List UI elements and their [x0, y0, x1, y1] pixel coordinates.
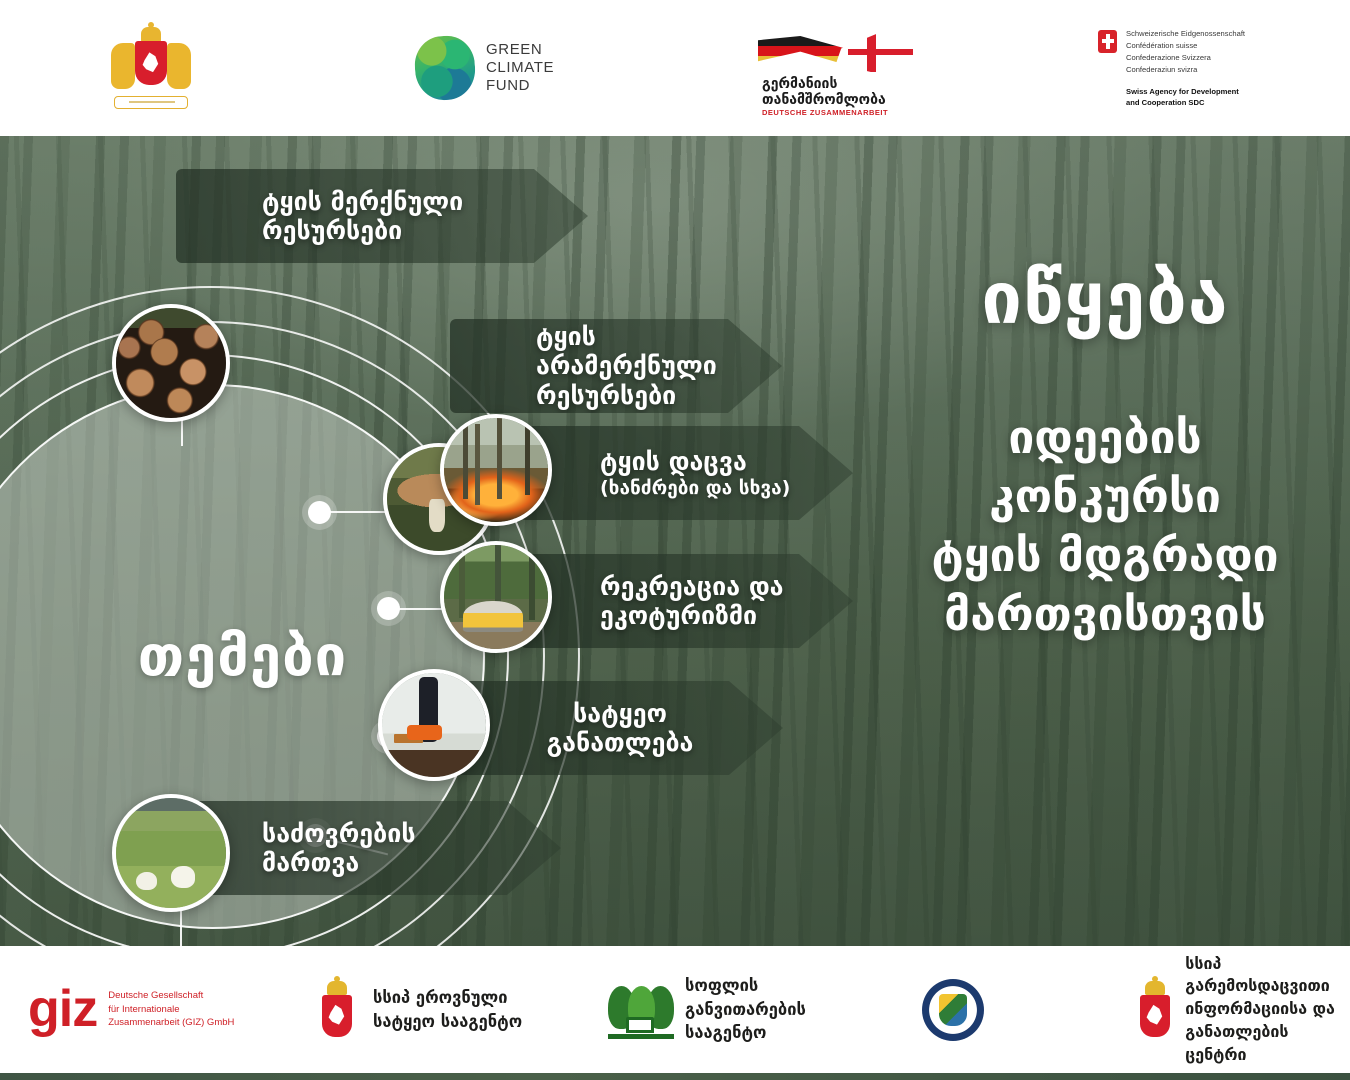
rural-line-2: განვითარების — [685, 998, 806, 1021]
coat-of-arms-icon — [108, 23, 194, 113]
topic-photo-education — [378, 669, 490, 781]
rural-line-1: სოფლის — [685, 974, 806, 997]
topic-label-recreation-line2: ეკოტურიზმი — [600, 601, 757, 630]
crown-icon — [141, 27, 161, 42]
forestry-line-1: სსიპ ეროვნული — [373, 986, 522, 1009]
chainsaw-worker-photo — [382, 673, 486, 777]
topic-label-pasture-line2: მართვა — [262, 848, 359, 877]
sdc-languages: Schweizerische Eidgenossenschaft Confédé… — [1126, 28, 1245, 77]
giz-logo: giz Deutsche Gesellschaft für Internatio… — [28, 946, 234, 1073]
eiec-line-1: სსიპ გარემოსდაცვითი — [1185, 953, 1350, 998]
crown-small-icon — [327, 981, 347, 995]
topic-arrow-recreation[interactable]: რეკრეაცია და ეკოტურიზმი — [520, 554, 853, 648]
green-climate-fund-logo: GREEN CLIMATE FUND — [415, 0, 554, 136]
topic-label-recreation-line1: რეკრეაცია და — [600, 572, 784, 601]
german-flag-icon — [758, 36, 850, 66]
shield-small-icon — [322, 995, 352, 1037]
topic-label-recreation: რეკრეაცია და ეკოტურიზმი — [600, 572, 784, 631]
eiec-name: სსიპ გარემოსდაცვითი ინფორმაციისა და განა… — [1185, 953, 1350, 1067]
topic-label-pasture: საძოვრების მართვა — [262, 819, 416, 878]
ministry-seal-icon — [922, 979, 984, 1041]
topic-label-education-line2: განათლება — [547, 728, 694, 757]
lion-left-icon — [111, 43, 135, 89]
topic-label-non-timber-line1: ტყის არამერქნული — [536, 322, 717, 381]
giz-subtitle: Deutsche Gesellschaft für Internationale… — [108, 989, 234, 1030]
poster-subheadline: იდეების კონკურსი ტყის მდგრადი მართვისთვი… — [890, 408, 1320, 644]
topic-label-non-timber: ტყის არამერქნული რესურსები — [536, 322, 782, 411]
stacked-logs-photo — [116, 308, 226, 418]
forestry-line-2: სატყეო სააგენტო — [373, 1010, 522, 1033]
coat-of-arms-small-icon — [312, 979, 362, 1041]
german-georgian-flags-icon — [758, 26, 918, 78]
subhead-line-3: ტყის მდგრადი — [890, 526, 1320, 585]
german-cooperation-logo: გერმანიის თანამშრომლობა DEUTSCHE ZUSAMME… — [748, 0, 928, 136]
shield-small-icon-2 — [1140, 995, 1170, 1037]
eiec-line-3: განათლების ცენტრი — [1185, 1021, 1350, 1066]
shield-icon — [135, 41, 167, 85]
giz-sub-3: Zusammenarbeit (GIZ) GmbH — [108, 1016, 234, 1030]
dz-line-2: თანამშრომლობა — [762, 92, 886, 108]
orbit-dot-protection — [377, 597, 400, 620]
topic-arrow-timber[interactable]: ტყის მერქნული რესურსები — [176, 169, 588, 263]
topic-label-non-timber-line2: რესურსები — [536, 381, 676, 410]
topic-photo-protection — [440, 414, 552, 526]
crown-small-icon-2 — [1145, 981, 1165, 995]
topic-label-timber: ტყის მერქნული რესურსები — [262, 187, 463, 246]
forest-fire-photo — [444, 418, 548, 522]
ribbon-icon — [114, 96, 188, 109]
subhead-line-2: კონკურსი — [890, 467, 1320, 526]
house-icon — [626, 1017, 654, 1033]
sdc-line-rm: Confederaziun svizra — [1126, 64, 1245, 76]
ground-line-icon — [608, 1034, 674, 1039]
footer-logo-bar: giz Deutsche Gesellschaft für Internatio… — [0, 946, 1350, 1073]
national-forestry-agency-logo: სსიპ ეროვნული სატყეო სააგენტო — [312, 946, 522, 1073]
gcf-wordmark: GREEN CLIMATE FUND — [486, 41, 554, 96]
topic-label-timber-line2: რესურსები — [262, 216, 402, 245]
topic-label-protection-sub: (ხანძრები და სხვა) — [600, 477, 790, 499]
topic-label-education-line1: სატყეო — [573, 699, 667, 728]
poster-main-stage: თემები ტყის მერქნული რესურსები ტყის არამ… — [0, 136, 1350, 946]
topic-photo-timber — [112, 304, 230, 422]
sdc-line-it: Confederazione Svizzera — [1126, 52, 1245, 64]
sdc-line-fr: Confédération suisse — [1126, 40, 1245, 52]
gcf-line-2: CLIMATE — [486, 59, 554, 77]
giz-wordmark: giz — [28, 989, 97, 1031]
topic-photo-pasture — [112, 794, 230, 912]
bottom-accent-strip — [0, 1073, 1350, 1080]
poster-headline: იწყება — [890, 256, 1320, 340]
lion-right-icon — [167, 43, 191, 89]
header-logo-bar: GREEN CLIMATE FUND გერმანიის თანამშრომლო… — [0, 0, 1350, 136]
topic-label-protection: ტყის დაცვა (ხანძრები და სხვა) — [600, 447, 790, 499]
camping-tent-photo — [444, 545, 548, 649]
grazing-sheep-photo — [116, 798, 226, 908]
topic-arrow-protection[interactable]: ტყის დაცვა (ხანძრები და სხვა) — [520, 426, 853, 520]
rural-development-agency-logo: სოფლის განვითარების სააგენტო — [608, 946, 806, 1073]
trees-house-icon — [608, 981, 674, 1039]
sdc-bold-1: Swiss Agency for Development — [1126, 86, 1245, 97]
gcf-line-3: FUND — [486, 77, 554, 95]
sdc-line-de: Schweizerische Eidgenossenschaft — [1126, 28, 1245, 40]
topic-label-protection-line1: ტყის დაცვა — [600, 447, 747, 476]
topic-label-education: სატყეო განათლება — [540, 699, 700, 758]
subhead-line-1: იდეების — [890, 408, 1320, 467]
topic-arrow-non-timber[interactable]: ტყის არამერქნული რესურსები — [450, 319, 782, 413]
georgian-flag-icon — [836, 30, 922, 74]
central-topics-label: თემები — [138, 624, 347, 689]
georgia-coat-of-arms-logo — [108, 0, 194, 136]
subhead-line-4: მართვისთვის — [890, 585, 1320, 644]
eiec-line-2: ინფორმაციისა და — [1185, 998, 1350, 1021]
topic-label-pasture-line1: საძოვრების — [262, 819, 416, 848]
sdc-agency-name: Swiss Agency for Development and Coopera… — [1126, 86, 1245, 109]
swiss-flag-icon — [1098, 30, 1117, 53]
coat-of-arms-small-icon-2 — [1130, 979, 1174, 1041]
dz-line-3: DEUTSCHE ZUSAMMENARBEIT — [762, 108, 888, 117]
topic-photo-recreation — [440, 541, 552, 653]
dz-line-1: გერმანიის — [762, 76, 837, 92]
ministry-seal-logo — [922, 946, 984, 1073]
forestry-agency-name: სსიპ ეროვნული სატყეო სააგენტო — [373, 986, 522, 1033]
topic-label-timber-line1: ტყის მერქნული — [262, 187, 463, 216]
topic-arrow-pasture[interactable]: საძოვრების მართვა — [176, 801, 561, 895]
orbit-dot-non-timber — [308, 501, 331, 524]
gcf-line-1: GREEN — [486, 41, 554, 59]
globe-icon — [413, 34, 477, 102]
sdc-bold-2: and Cooperation SDC — [1126, 97, 1245, 108]
poster-headline-block: იწყება იდეების კონკურსი ტყის მდგრადი მარ… — [890, 256, 1320, 644]
environmental-info-education-center-logo: სსიპ გარემოსდაცვითი ინფორმაციისა და განა… — [1130, 946, 1350, 1073]
rural-line-3: სააგენტო — [685, 1021, 806, 1044]
topic-arrow-education[interactable]: სატყეო განათლება — [450, 681, 783, 775]
swiss-sdc-logo: Schweizerische Eidgenossenschaft Confédé… — [1098, 0, 1245, 136]
rural-agency-name: სოფლის განვითარების სააგენტო — [685, 974, 806, 1044]
giz-sub-1: Deutsche Gesellschaft — [108, 989, 234, 1003]
giz-sub-2: für Internationale — [108, 1003, 234, 1017]
